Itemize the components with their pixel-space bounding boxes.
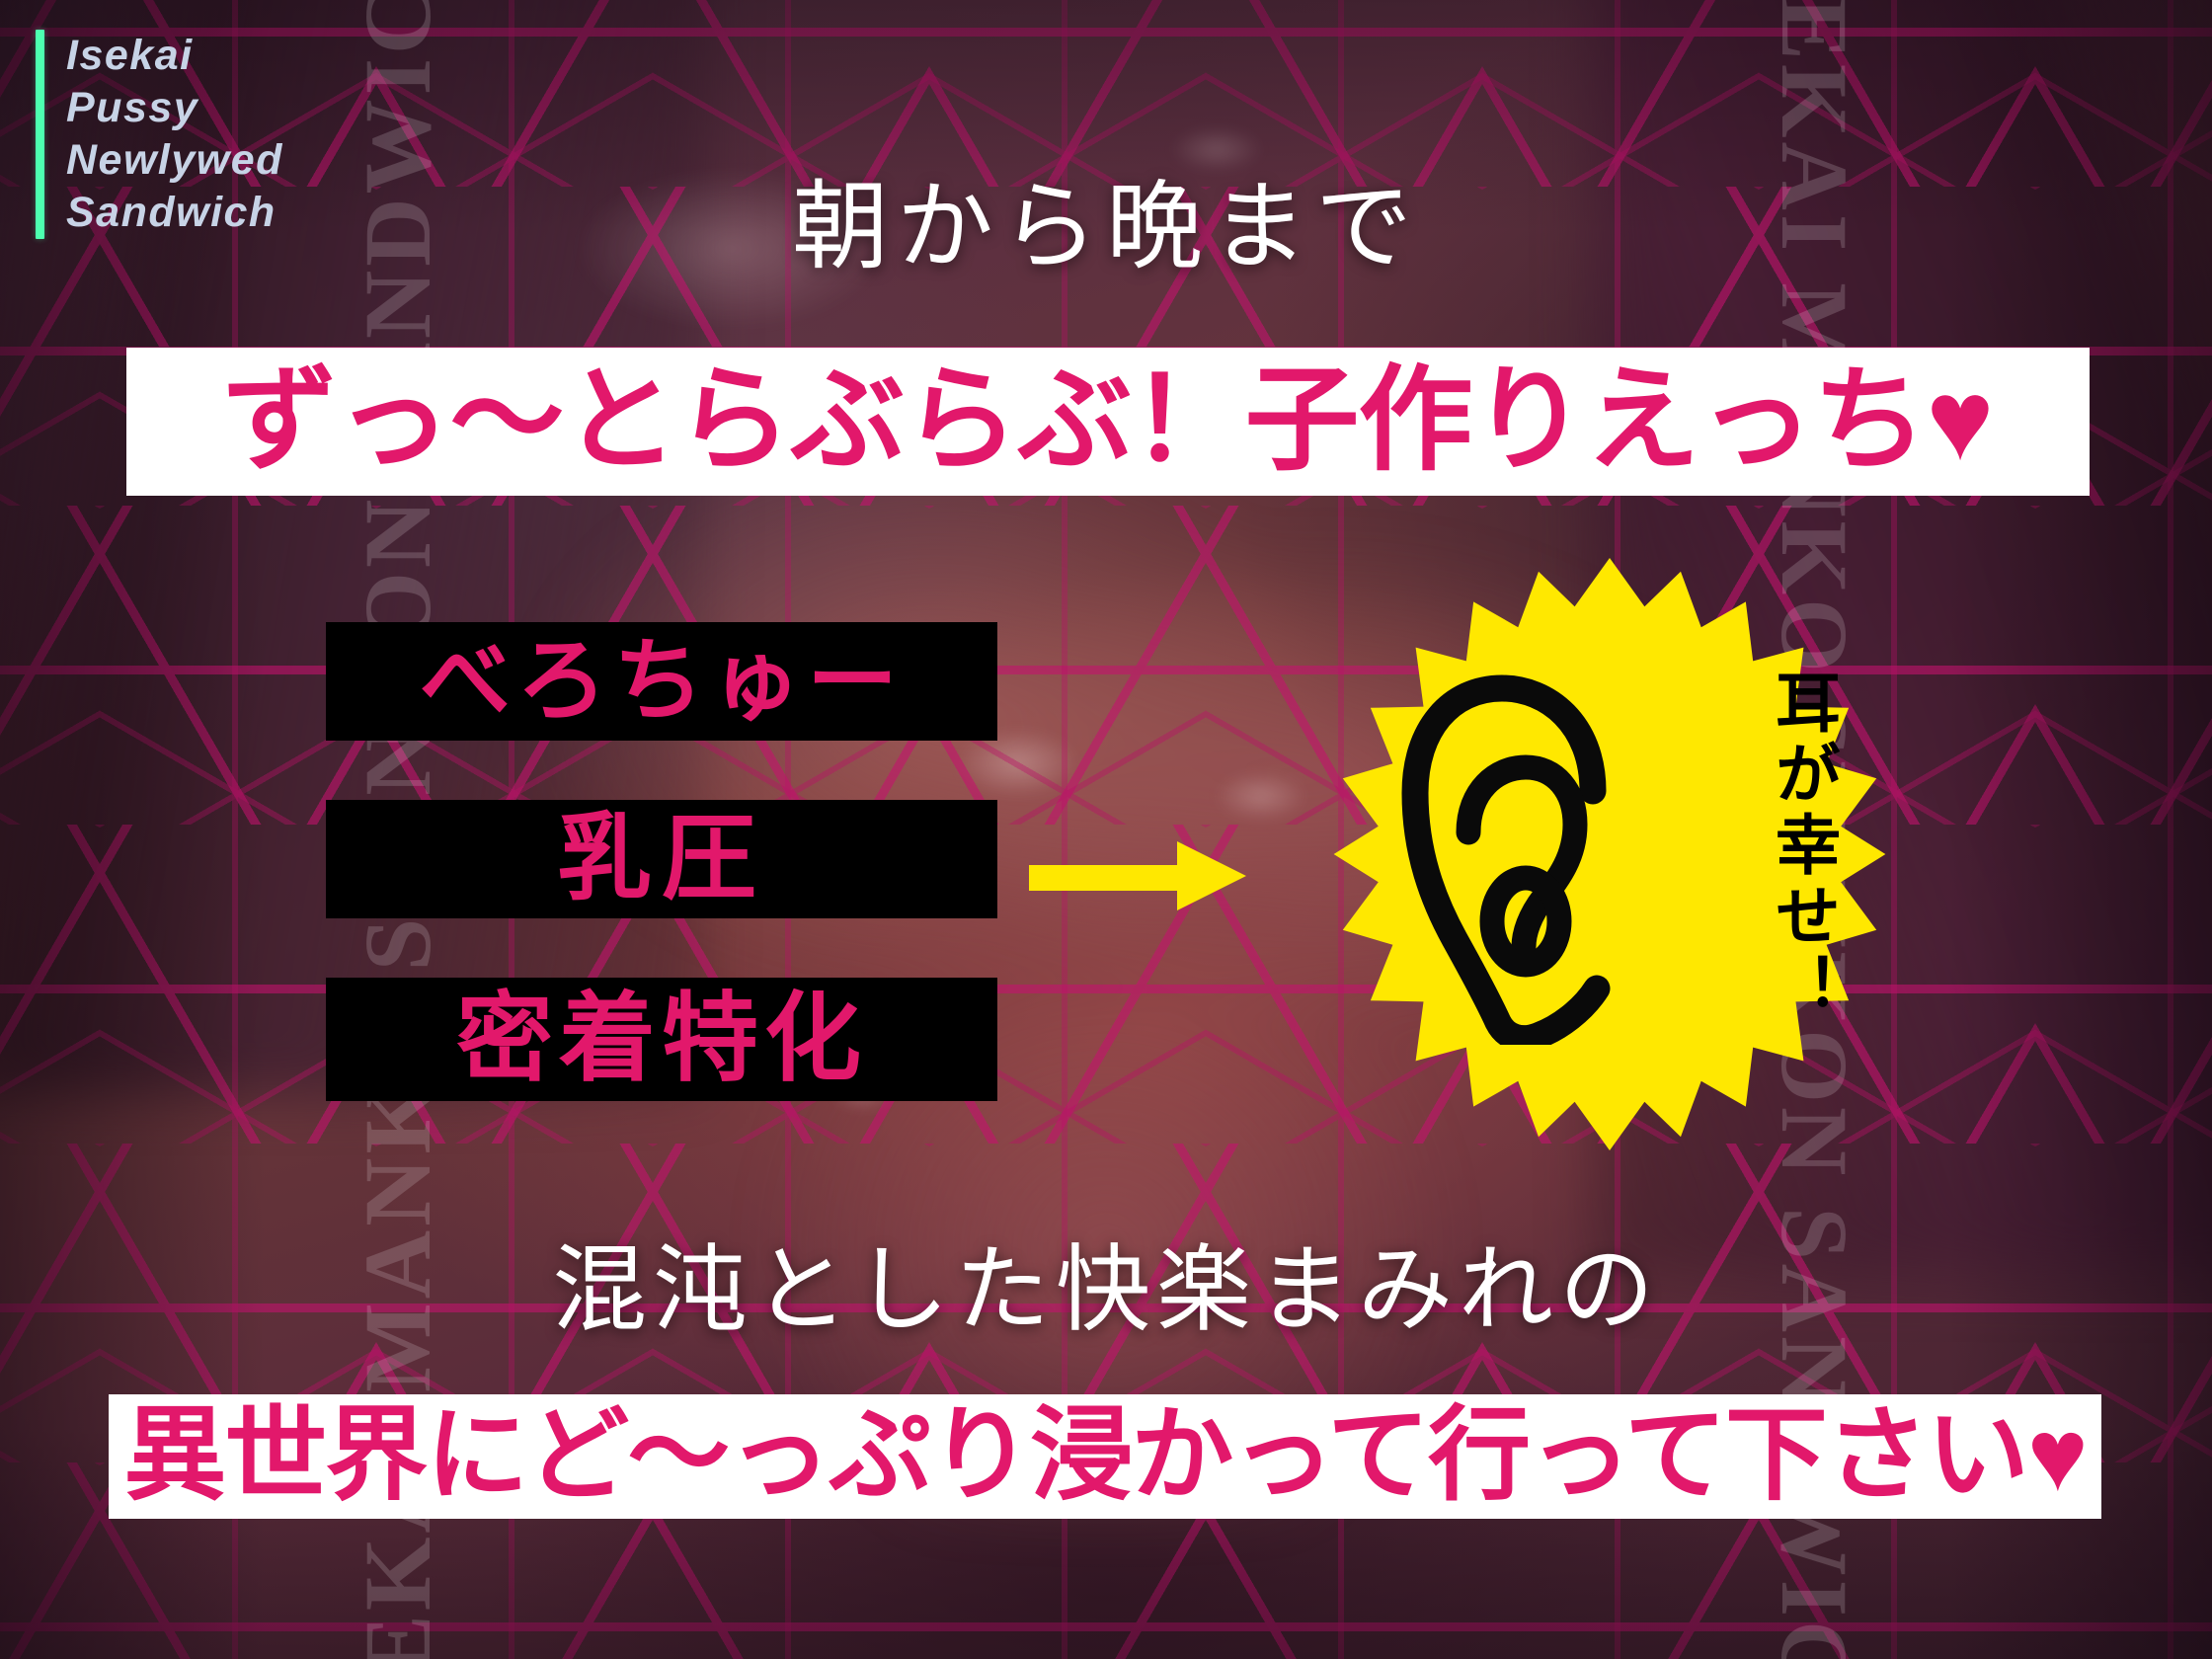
feature-box-micchaku: 密着特化: [326, 978, 997, 1101]
feature-box-nyuatsu-text: 乳圧: [557, 812, 766, 907]
headline-middle: 混沌とした快楽まみれの: [0, 1213, 2212, 1350]
starburst-badge: 耳が幸せ！: [1308, 558, 1911, 1150]
banner-primary-text: ずっ〜とらぶらぶ！子作りえっち♥: [223, 364, 1994, 479]
feature-box-berochu: べろちゅー: [326, 622, 997, 741]
title-line-2: Pussy: [66, 82, 283, 134]
title-line-1: Isekai: [66, 30, 283, 82]
arrow-right-icon: [1029, 841, 1246, 910]
headline-top: 朝から晩まで: [0, 148, 2212, 288]
promo-banner-canvas: ISEKAI MANKO SHINKON SANDWICH ISEKAI MAN…: [0, 0, 2212, 1659]
arrow-head: [1177, 841, 1246, 910]
ear-icon: [1399, 674, 1626, 1045]
starburst-label: 耳が幸せ！: [1769, 669, 1834, 1024]
banner-secondary-text: 異世界にど〜っぷり浸かって行って下さい♥: [123, 1405, 2086, 1508]
banner-secondary: 異世界にど〜っぷり浸かって行って下さい♥: [109, 1394, 2101, 1519]
arrow-shaft: [1029, 865, 1177, 891]
feature-box-micchaku-text: 密着特化: [456, 991, 867, 1088]
banner-primary: ずっ〜とらぶらぶ！子作りえっち♥: [126, 348, 2090, 496]
feature-box-berochu-text: べろちゅー: [420, 636, 904, 727]
feature-box-nyuatsu: 乳圧: [326, 800, 997, 918]
